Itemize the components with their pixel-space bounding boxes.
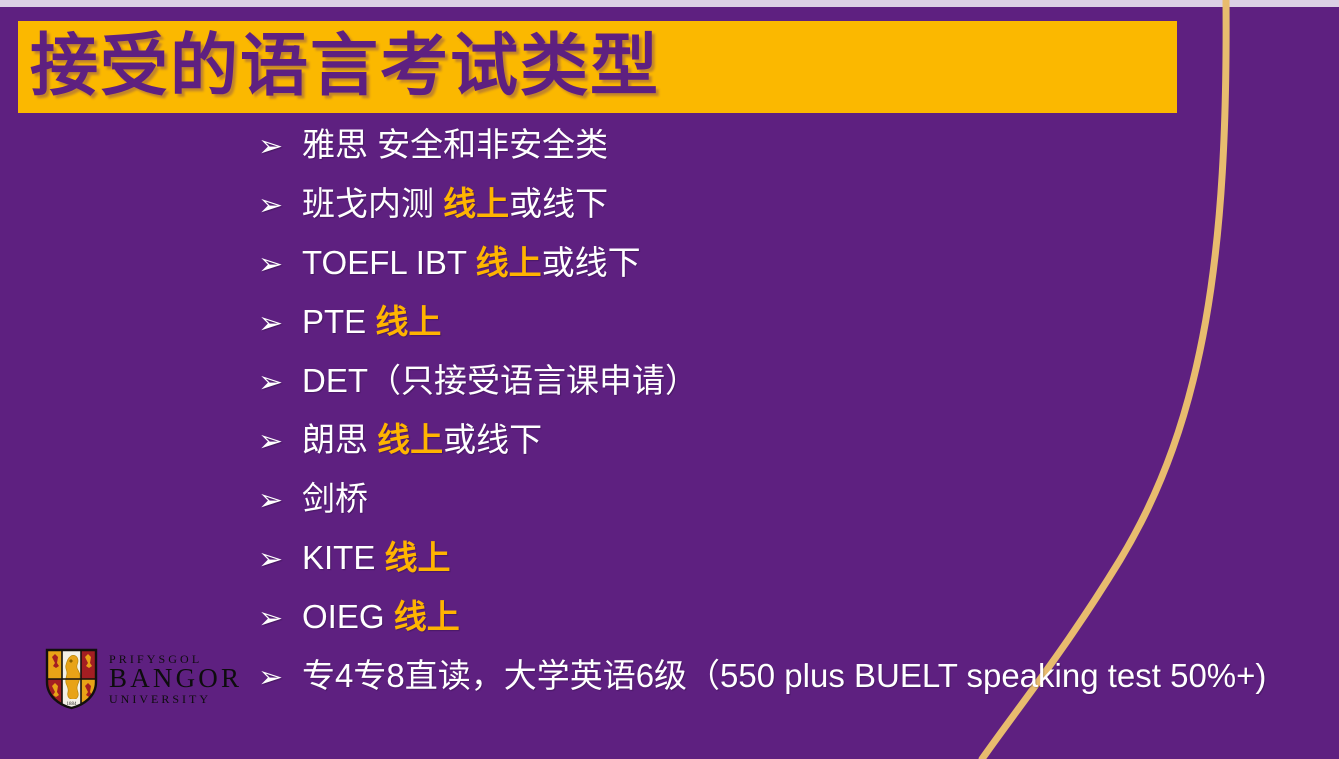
list-item-main: DET（只接受语言课申请）	[302, 362, 698, 399]
list-item: ➢ OIEG 线上	[258, 600, 1318, 659]
list-item-tail: 或线下	[509, 185, 608, 222]
list-item-main: 朗思	[302, 421, 377, 458]
list-item-tail: 或线下	[542, 244, 641, 281]
list-item: ➢ KITE 线上	[258, 541, 1318, 600]
title-banner: 接受的语言考试类型	[18, 21, 1177, 113]
list-item-highlight: 线上	[375, 303, 441, 340]
list-item-text: TOEFL IBT 线上或线下	[302, 246, 1318, 279]
top-edge-strip	[0, 0, 1339, 7]
logo-wordmark: PRIFYSGOL BANGOR UNIVERSITY	[109, 653, 242, 706]
arrow-bullet-icon: ➢	[258, 368, 302, 398]
logo-bangor-text: BANGOR	[109, 665, 242, 693]
slide-canvas: 接受的语言考试类型 ➢ 雅思 安全和非安全类 ➢ 班戈内测 线上或线下 ➢ TO…	[0, 0, 1339, 759]
page-title: 接受的语言考试类型	[30, 33, 660, 101]
list-item-text: OIEG 线上	[302, 600, 1318, 633]
arrow-bullet-icon: ➢	[258, 545, 302, 575]
list-item-main: 剑桥	[302, 480, 368, 517]
list-item: ➢ 雅思 安全和非安全类	[258, 128, 1318, 187]
list-item-main: 专4专8直读，大学英语6级（550 plus BUELT speaking te…	[302, 657, 1266, 694]
list-item-main: TOEFL IBT	[302, 244, 476, 281]
arrow-bullet-icon: ➢	[258, 191, 302, 221]
list-item-main: OIEG	[302, 598, 394, 635]
list-item-text: 专4专8直读，大学英语6级（550 plus BUELT speaking te…	[302, 659, 1318, 692]
list-item-tail: 或线下	[443, 421, 542, 458]
list-item-main: PTE	[302, 303, 375, 340]
arrow-bullet-icon: ➢	[258, 604, 302, 634]
list-item-text: KITE 线上	[302, 541, 1318, 574]
arrow-bullet-icon: ➢	[258, 663, 302, 693]
list-item-highlight: 线上	[385, 539, 451, 576]
arrow-bullet-icon: ➢	[258, 250, 302, 280]
list-item: ➢ TOEFL IBT 线上或线下	[258, 246, 1318, 305]
bangor-crest-icon: 1884	[44, 648, 99, 710]
arrow-bullet-icon: ➢	[258, 132, 302, 162]
list-item-main: 班戈内测	[302, 185, 443, 222]
list-item-main: KITE	[302, 539, 385, 576]
list-item-text: PTE 线上	[302, 305, 1318, 338]
list-item-highlight: 线上	[476, 244, 542, 281]
list-item: ➢ DET（只接受语言课申请）	[258, 364, 1318, 423]
list-item-text: 剑桥	[302, 482, 1318, 515]
list-item: ➢ PTE 线上	[258, 305, 1318, 364]
list-item-text: 班戈内测 线上或线下	[302, 187, 1318, 220]
list-item-text: 朗思 线上或线下	[302, 423, 1318, 456]
arrow-bullet-icon: ➢	[258, 486, 302, 516]
list-item-highlight: 线上	[377, 421, 443, 458]
list-item-text: 雅思 安全和非安全类	[302, 128, 1318, 161]
list-item-highlight: 线上	[443, 185, 509, 222]
list-item-highlight: 线上	[394, 598, 460, 635]
bangor-university-logo: 1884 PRIFYSGOL BANGOR UNIVERSITY	[44, 648, 249, 710]
list-item-main: 雅思 安全和非安全类	[302, 126, 608, 163]
list-item: ➢ 班戈内测 线上或线下	[258, 187, 1318, 246]
list-item: ➢ 专4专8直读，大学英语6级（550 plus BUELT speaking …	[258, 659, 1318, 718]
arrow-bullet-icon: ➢	[258, 309, 302, 339]
list-item: ➢ 剑桥	[258, 482, 1318, 541]
logo-university-text: UNIVERSITY	[109, 693, 242, 706]
arrow-bullet-icon: ➢	[258, 427, 302, 457]
list-item: ➢ 朗思 线上或线下	[258, 423, 1318, 482]
exam-type-list: ➢ 雅思 安全和非安全类 ➢ 班戈内测 线上或线下 ➢ TOEFL IBT 线上…	[258, 128, 1318, 718]
list-item-text: DET（只接受语言课申请）	[302, 364, 1318, 397]
